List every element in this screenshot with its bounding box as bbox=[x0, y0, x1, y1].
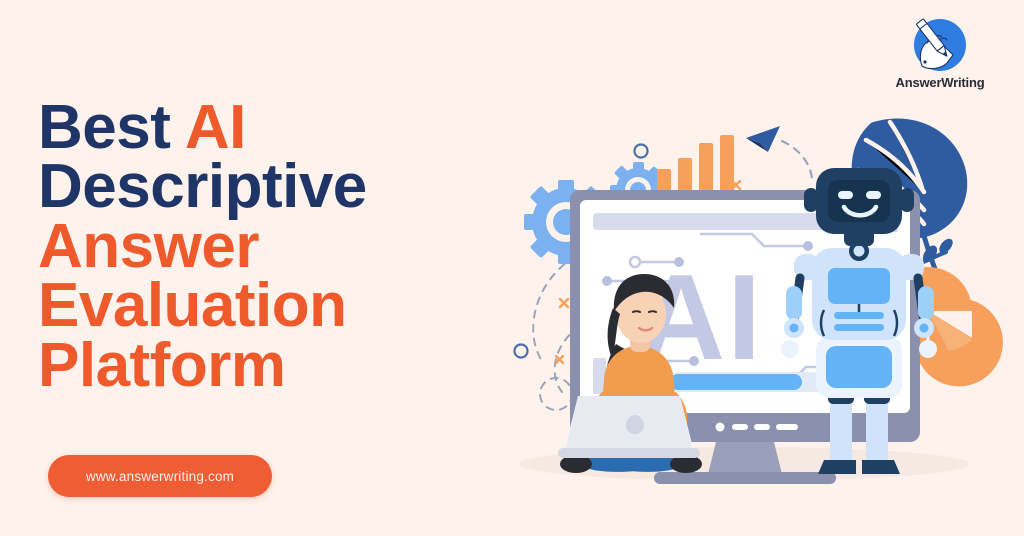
headline-line-2: Descriptive bbox=[38, 157, 468, 217]
progress-bar bbox=[668, 372, 838, 392]
headline-line-4: Evaluation bbox=[38, 276, 468, 336]
hero-illustration: AI bbox=[494, 96, 1024, 506]
hand-with-pencil-icon bbox=[878, 18, 1002, 74]
headline-line-1: Best AI bbox=[38, 98, 468, 158]
small-circle-decoration bbox=[635, 145, 648, 158]
headline-line-5: Platform bbox=[38, 336, 468, 396]
paper-plane-icon bbox=[746, 126, 780, 152]
promo-banner: Best AI Descriptive Answer Evaluation Pl… bbox=[0, 0, 1024, 536]
plane-trail-decoration bbox=[782, 141, 812, 178]
bar-chart-icon bbox=[657, 135, 734, 192]
page-title: Best AI Descriptive Answer Evaluation Pl… bbox=[38, 98, 468, 396]
headline-line-3: Answer bbox=[38, 217, 468, 277]
website-url-button[interactable]: www.answerwriting.com bbox=[48, 455, 272, 497]
small-circle-decoration bbox=[515, 345, 528, 358]
brand-name: AnswerWriting bbox=[878, 75, 1002, 90]
brand-logo[interactable]: AnswerWriting bbox=[878, 18, 1002, 90]
